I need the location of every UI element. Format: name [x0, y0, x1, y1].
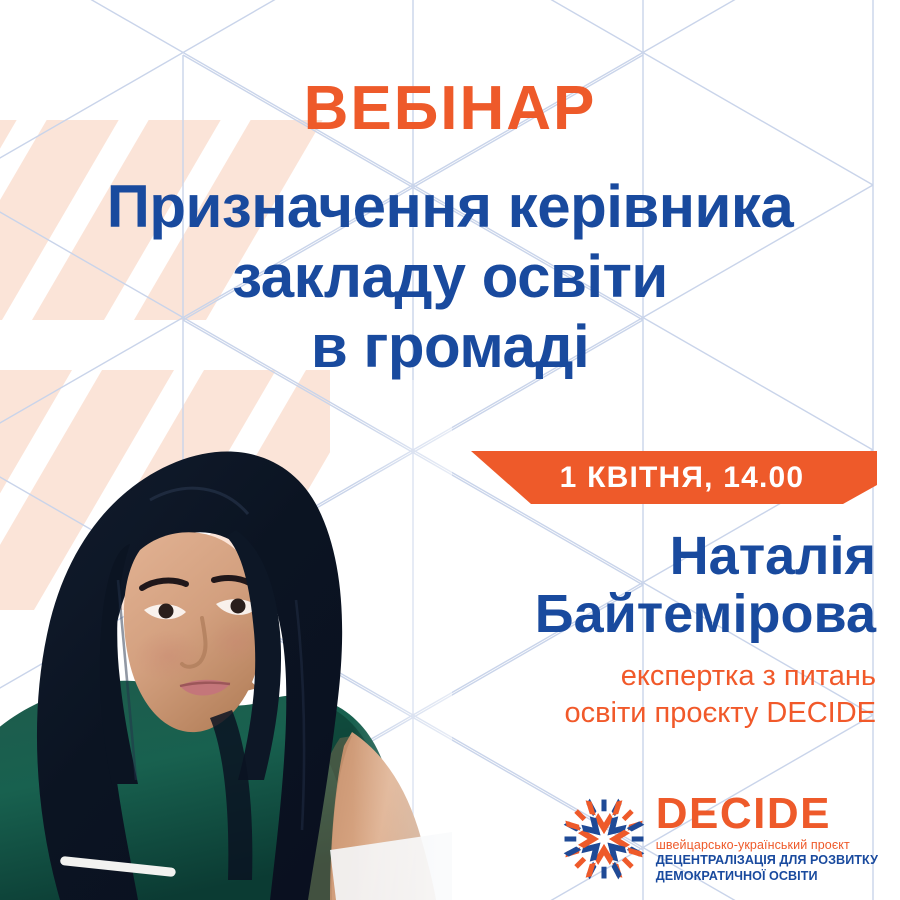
date-badge: 1 КВІТНЯ, 14.00	[471, 451, 877, 504]
decide-logo-text: DECIDE швейцарсько-український проєкт ДЕ…	[656, 793, 878, 884]
page-title: Призначення керівника закладу освіти в г…	[0, 172, 900, 383]
date-badge-label: 1 КВІТНЯ, 14.00	[471, 451, 877, 504]
snowflake-icon	[562, 797, 646, 881]
speaker-block: Наталія Байтемірова експертка з питань о…	[316, 527, 876, 733]
headline-line-2: закладу освіти	[0, 242, 900, 312]
page-kicker: ВЕБІНАР	[0, 78, 900, 140]
decide-tagline-primary: швейцарсько-український проєкт	[656, 838, 878, 854]
speaker-name: Наталія Байтемірова	[316, 527, 876, 644]
headline-line-1: Призначення керівника	[0, 172, 900, 242]
decide-tagline-secondary-line-2: ДЕМОКРАТИЧНОЇ ОСВІТИ	[656, 869, 878, 884]
speaker-role-line-1: експертка з питань	[316, 658, 876, 696]
speaker-first-name: Наталія	[316, 527, 876, 585]
speaker-last-name: Байтемірова	[316, 585, 876, 643]
decide-tagline-secondary-line-1: ДЕЦЕНТРАЛІЗАЦІЯ ДЛЯ РОЗВИТКУ	[656, 853, 878, 868]
speaker-role-line-2: освіти проєкту DECIDE	[316, 695, 876, 733]
webinar-poster: ВЕБІНАР Призначення керівника закладу ос…	[0, 0, 900, 900]
decide-logo: DECIDE швейцарсько-український проєкт ДЕ…	[562, 793, 878, 884]
decide-wordmark: DECIDE	[656, 793, 878, 835]
speaker-role: експертка з питань освіти проєкту DECIDE	[316, 658, 876, 733]
headline-line-3: в громаді	[0, 312, 900, 382]
decide-tagline-secondary: ДЕЦЕНТРАЛІЗАЦІЯ ДЛЯ РОЗВИТКУ ДЕМОКРАТИЧН…	[656, 853, 878, 884]
